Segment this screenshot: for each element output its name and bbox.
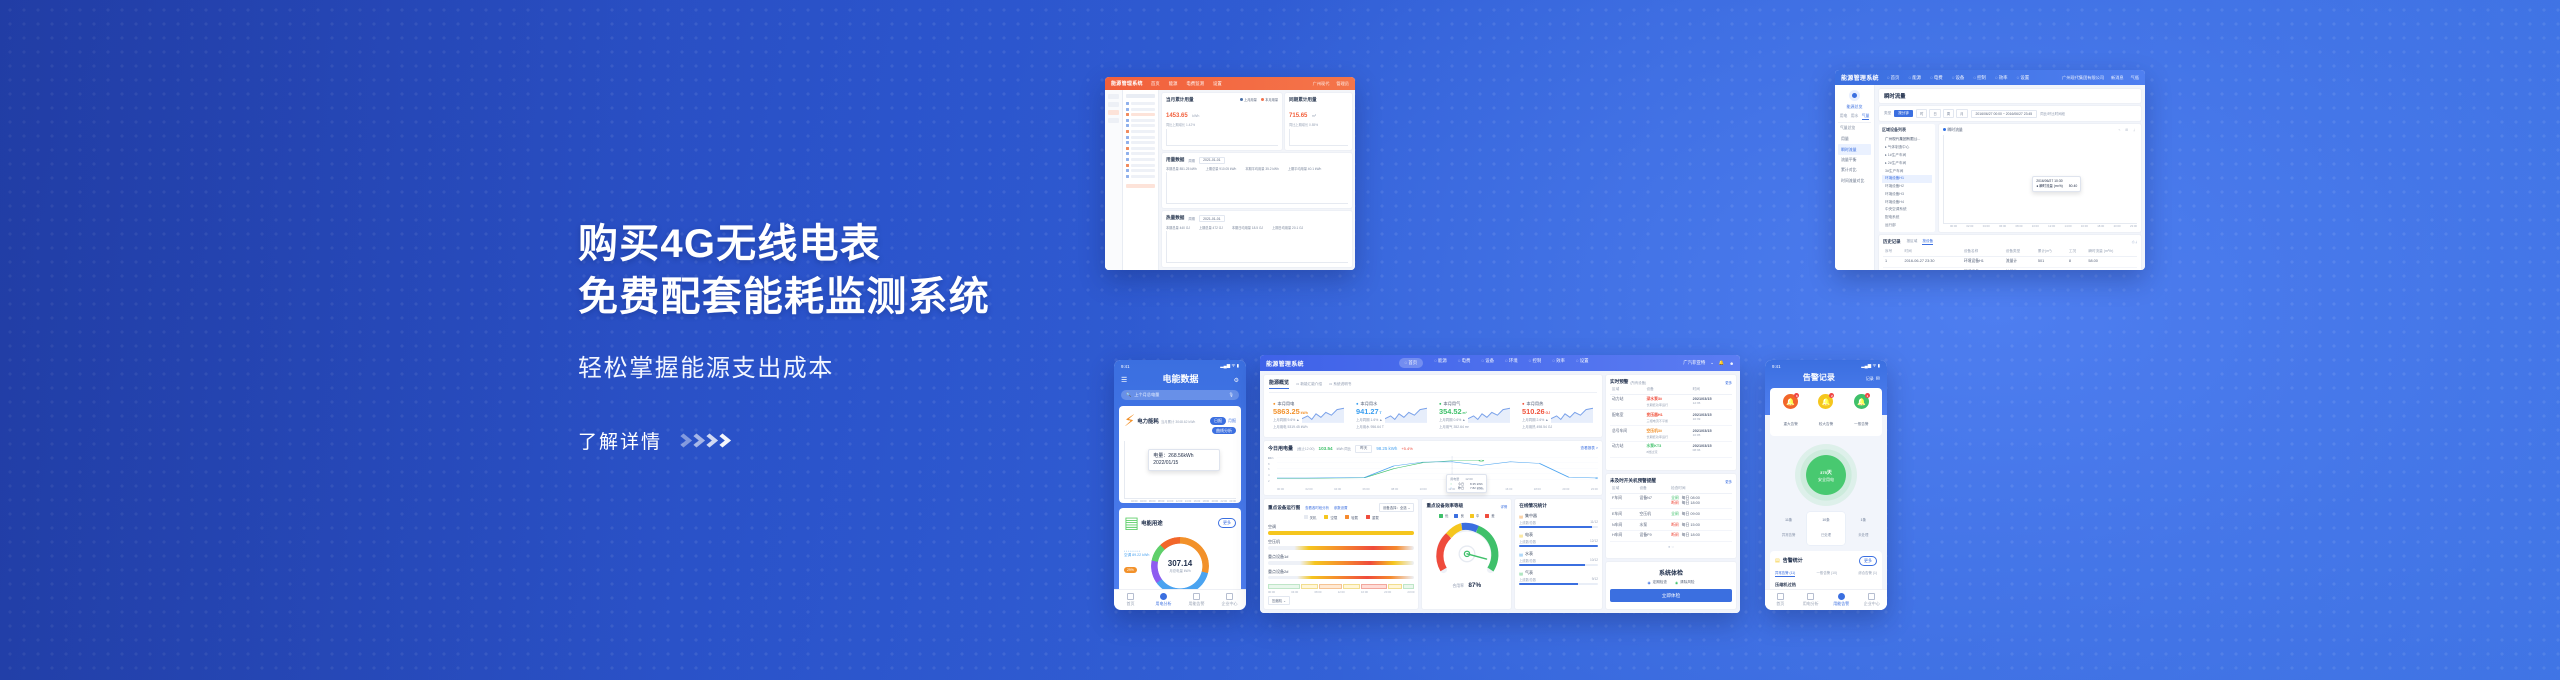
win4-run-row-bar [1268,531,1414,534]
win1-card-period-usage: 同期累计用量 715.65 m³ 同比上期增长 0.85% [1285,93,1352,150]
axis-tick: 4 [1268,473,1276,477]
win5-nav-item[interactable]: 用能告警 [1826,593,1857,608]
win4-nav-item[interactable]: ◌ 能源 [1434,358,1447,367]
win4-remind-card: 未及时开关机预警提醒 更多 区域设备检查时间 F车间设备N7全闸每日 08:00… [1606,474,1736,558]
win1-tree-item[interactable] [1126,141,1155,144]
tree-dot-icon [1126,136,1129,139]
win5-status-icons: ▂▄▆ ᯤ ▮ [1861,363,1880,369]
table-cell: 2016-06-27 23:30 [1903,256,1962,267]
axis-tick: 20:00 [2114,224,2121,228]
win5-stats-tab[interactable]: 综合告警 (1) [1858,570,1877,577]
win5-count-item[interactable]: 11条异常告警 [1770,512,1807,545]
axis-tick: 08:00 [1391,487,1398,491]
nav-icon [1160,593,1167,600]
tree-item-label [1131,102,1155,105]
win1-brand: 能源管理系统 [1111,80,1143,87]
table-cell: 2016-06-27 23:15 [1903,267,1962,270]
table-header-cell: 瞬时流量 (m³/h) [2086,247,2137,256]
win4-kpi-card: ●本月用水941.27 T上月同期 1.6% ▲上月用水 956.64 T [1352,397,1431,433]
mail-icon[interactable]: ✉ [1876,376,1880,382]
win4-remind-more[interactable]: 更多 [1725,479,1732,484]
table-cell: 54.85 [2086,267,2137,270]
win3-donut-chart: 307.14 月总电量 kWh [1151,537,1209,595]
online-progress-fill [1519,545,1598,547]
count-label: 异常告警 [1782,533,1796,537]
win2-side-item[interactable]: 用量 [1838,134,1871,144]
win5-alert-types[interactable]: 🔔3重大告警🔔2较大告警🔔1一般告警 [1770,388,1882,436]
win2-nav-item[interactable]: ◌ 首页 [1887,75,1900,81]
win2-tree-item[interactable]: 环境设备H1 [1882,175,1932,183]
legend-swatch-icon [1439,514,1443,518]
win1-tree-item[interactable] [1126,108,1155,111]
remind-time: 每日 15:00 [1682,523,1700,528]
win4-alert-row[interactable]: 动力站水泵KT38档过流2021/03/1508:36 [1610,441,1732,457]
axis-tick: 06:00 [1363,487,1370,491]
table-header-cell: 设备 [1638,484,1670,493]
win4-alert-row[interactable]: 配电室变压器H1三相电流不平衡2021/03/1510:39 [1610,410,1732,426]
table-header-cell: 累计(m³) [2036,247,2067,256]
win1-card2-unit: m³ [1312,114,1316,118]
axis-tick: 10 [1268,456,1276,460]
win1-card-usage-data: 用量数据 周期 2021-01-01 本期总量 851.25 kWh上期总量 9… [1162,153,1352,209]
win4-line-y-axis: 108642 [1268,456,1276,484]
win2-side-item[interactable]: 瞬时流量 [1838,144,1871,154]
win4-remind-row[interactable]: N车间水泵断闸每日 15:00 [1610,520,1732,531]
win4-run-link[interactable]: 查看各时段分析 [1305,505,1329,510]
win4-alert-card: 实时预警 (所有设备) 更多 区域设备时间 动力站深水泵3#长期低功率运行202… [1606,375,1736,470]
win2-table-tabs[interactable]: 按区域按设备 [1907,239,1934,245]
win2-nav-item[interactable]: ◌ 电费 [1930,75,1943,81]
win1-tree-item[interactable] [1126,152,1155,155]
win2-nav-item[interactable]: ◌ 效率 [1995,75,2008,81]
alert-device-name: 变压器H1 [1646,413,1688,418]
win2-filter-step[interactable]: 日 [1929,109,1940,118]
win5-nav-item[interactable]: 首页 [1765,593,1796,608]
win2-side-item[interactable]: 累计对比 [1838,165,1871,175]
alert-desc: 三相电流不平衡 [1646,419,1668,423]
table-header-cell: 区域 [1610,484,1638,493]
axis-tick: 23:00 [1407,590,1414,594]
win2-nav-item[interactable]: ◌ 能源 [1908,75,1921,81]
win2-tree-item[interactable]: 环境设备H2 [1882,183,1932,191]
win2-side-tab[interactable]: 用水 [1851,114,1859,120]
win5-title: 告警记录 [1772,370,1866,388]
win4-run-card: 重点设备运行图 查看各时段分析参数设置 设备选择：全选 ⌄ 关机空载轻载重载 空… [1264,499,1418,609]
win2-chart-tooltip: 2016/06/27 10:30● 瞬时流量 (m³/h)50.40 [2032,176,2081,192]
win4-run-title: 重点设备运行图 [1268,505,1300,511]
alert-time: 10:05 [1693,433,1701,437]
screenshot-mobile-alarm-records[interactable]: 9:41 ▂▄▆ ᯤ ▮ 告警记录 记录 ✉ 🔔3重大告警🔔2较大告警🔔1一般告… [1765,360,1887,610]
win4-eff-link[interactable]: 详情 [1500,504,1507,509]
win4-run-row: 重点设备1# [1268,554,1414,565]
nav-label: 企业中心 [1222,601,1238,606]
win2-filter-step[interactable]: 周 [1943,109,1954,118]
tree-dot-icon [1126,141,1129,144]
win1-topbar-action[interactable]: 广州现代 [1313,81,1330,87]
alert-time: 08:36 [1693,448,1701,452]
win2-tree-item[interactable]: ▸ 气体制造中心 [1882,144,1932,152]
win1-topbar-action[interactable]: 管理员 [1336,81,1349,87]
win5-ring-value: 375 [1820,470,1827,475]
win4-remind-row[interactable]: H车间设备F9断闸每日 18:00 [1610,530,1732,541]
table-cell: 8 [2067,267,2087,270]
remind-tag: 全闸 [1671,512,1679,517]
axis-tick: 10:00 [1420,487,1427,491]
win4-nav-item[interactable]: ◌ 电费 [1458,358,1471,367]
win5-count-item[interactable]: 10条已处理 [1807,512,1844,545]
axis-tick: 12:00 [1176,500,1183,503]
win4-today-line-chart [1277,456,1598,484]
win1-nav-item[interactable]: 首页 [1151,81,1160,87]
win4-nav-item[interactable]: ◌ 环境 [1505,358,1518,367]
win4-nav-item[interactable]: ◌ 首页 [1399,358,1424,367]
win4-remind-row[interactable]: E车间空压机全闸每日 09:00 [1610,509,1732,520]
user-icon[interactable]: ☻ [1729,361,1734,366]
win1-tree-item[interactable] [1126,130,1155,133]
remind-tag: 断闸 [1671,533,1679,538]
win2-table-export-icon[interactable]: ⎙ ⤓ [2132,240,2137,244]
win3-chart-x-axis: 02:0004:0006:0008:0010:0012:0014:0016:00… [1124,500,1236,503]
win4-run-link[interactable]: 参数设置 [1334,505,1348,510]
table-cell: 501 [2036,256,2067,267]
alert-device-name: 水泵KT3 [1646,444,1688,449]
win4-today-pct: +5.4% [1401,446,1412,451]
win5-alert-type[interactable]: 🔔1一般告警 [1844,394,1879,430]
win4-eff-legend-item: 良 [1454,513,1463,518]
alert-type-icon: 🔔1 [1854,394,1869,409]
alarm-name: 压缩机过热 [1775,582,1824,588]
win2-tree-root[interactable]: 广州现代集团有限公... [1882,136,1932,144]
table-cell: 2 [1883,267,1903,270]
screenshot-ems-flow[interactable]: 能源管理系统 ◌ 首页◌ 能源◌ 电费◌ 设备◌ 控制◌ 效率◌ 设置 广州现代… [1835,70,2145,270]
win4-remind-row[interactable]: F车间设备N7全闸每日 08:00断闸每日 18:00 [1610,493,1732,509]
win4-today-select[interactable]: 昨天 [1355,445,1372,453]
alert-time: 10:39 [1693,417,1701,421]
online-value: 10/12 [1590,558,1598,563]
win4-nav-item[interactable]: ◌ 设备 [1481,358,1494,367]
alert-time-cell: 2021/03/1510:39 [1691,410,1732,426]
win1-side-item[interactable] [1108,110,1119,115]
win1-tree-item[interactable] [1126,175,1155,178]
online-progress-fill [1519,583,1578,585]
alert-area: 总号车间 [1610,426,1644,442]
headline-line-2: 免费配套能耗监测系统 [578,271,1198,324]
online-progress [1519,545,1598,547]
count-unit: 条 [1789,518,1792,522]
win1-nav-item[interactable]: 设置 [1213,81,1222,87]
win4-check-title: 系统体检 [1610,568,1732,577]
win4-nav-item[interactable]: ◌ 设置 [1576,358,1589,367]
axis-tick: 14:00 [1477,487,1484,491]
win4-run-legend-item: 重载 [1366,515,1379,520]
remind-area: F车间 [1610,493,1638,509]
gear-icon[interactable]: ⚙ [1234,377,1239,384]
win2-nav-item[interactable]: ◌ 控制 [1973,75,1986,81]
legend-swatch-icon [1304,515,1308,519]
learn-more-label: 了解详情 [578,427,662,454]
win2-tree-item[interactable]: ▸ 1#生产车间 [1882,152,1932,160]
online-row-sub: 上线数/总数12/12 [1519,539,1598,544]
axis-tick: 02:00 [1306,487,1313,491]
online-progress-fill [1519,526,1591,528]
win5-safety-ring: 375天 安全用电 [1795,444,1857,506]
device-icon: ▤ [1519,514,1523,519]
win2-side-item[interactable]: 时间流量对比 [1838,176,1871,186]
win3-bottom-nav[interactable]: 首页用电分析用能告警企业中心 [1114,589,1246,610]
online-value: 12/12 [1590,539,1598,544]
bell-icon: 🔔 [1786,398,1795,406]
axis-tick: 10:00 [2032,224,2039,228]
win2-tree-title: 区域设备列表 [1882,127,1932,133]
win1-tree-item[interactable] [1126,124,1155,127]
win1-tree-item[interactable] [1126,113,1155,116]
win5-stats-tab[interactable]: 异常告警 (11) [1775,570,1795,577]
win5-stats-more-button[interactable]: 更多 [1859,556,1877,566]
win4-company-selector[interactable]: 广汽菲亚特 [1683,360,1705,366]
win4-run-row-bar [1268,576,1414,579]
win2-filter-hint: 同比/环比时间段 [2040,111,2065,116]
kpi-icon: ● [1522,401,1525,406]
win4-today-report-link[interactable]: 查看报表 > [1581,446,1598,451]
win5-nav-item[interactable]: 企业中心 [1857,593,1888,608]
win2-filter-step[interactable]: 月 [1956,109,1967,118]
alert-device-cell: 空压机3#长期低功率运行 [1644,426,1690,442]
win1-stat: 上期总量 910.05 kWh [1206,166,1237,171]
win5-count-item[interactable]: 1条未处理 [1845,512,1882,545]
win2-page-title: 瞬时流量 [1884,92,2136,100]
win1-tree-item[interactable] [1126,119,1155,122]
win2-topbar-action[interactable]: 气瓶 [2131,75,2139,81]
win4-section-links[interactable]: ▭ 新能汇能介绍▭ 系统说明书 [1296,382,1351,387]
axis-tick: 16:00 [1194,500,1201,503]
win4-section-link[interactable]: ▭ 系统说明书 [1329,382,1351,387]
tree-dot-icon [1126,152,1129,155]
win2-chart-toolbar[interactable]: ⌁ ⊞ ⤓ [2118,128,2137,133]
win1-tree-item[interactable] [1126,102,1155,105]
win5-alert-type[interactable]: 🔔2较大告警 [1808,394,1843,430]
table-header-cell: 序号 [1883,247,1903,256]
win2-filter-steps[interactable]: 时日周月 [1916,109,1968,118]
win2-topbar-action[interactable]: 广州现代集团有限公司 [2062,75,2104,81]
win5-stats-tabs[interactable]: 异常告警 (11)一般告警 (10)综合告警 (1) [1775,570,1877,577]
win1-card3-date-picker[interactable]: 2021-01-01 [1199,157,1224,164]
nav-label: 用电分析 [1156,601,1172,606]
win2-tree-item[interactable]: 运行部 [1882,222,1932,230]
win2-topbar-action[interactable]: 新消息 [2111,75,2124,81]
win4-today-title: 今日用电量 [1268,445,1293,452]
win1-tree-item[interactable] [1126,164,1155,167]
tree-dot-icon [1126,102,1129,105]
tree-item-label [1131,136,1155,139]
win1-card3-filter-label: 周期 [1188,158,1195,163]
alert-time: 12:35 [1693,401,1701,405]
win2-date-range[interactable]: 2016/06/27 00:00 ~ 2016/06/27 23:45 [1971,110,2038,118]
win2-filter-active[interactable]: 按分钟 [1894,110,1913,117]
tree-dot-icon [1126,158,1129,161]
win2-filter-type-label: 类型 [1884,111,1891,116]
win1-tree-item[interactable] [1126,158,1155,161]
win4-run-legend-item: 关机 [1304,515,1317,520]
win1-nav-item[interactable]: 电费监测 [1186,81,1204,87]
win1-card4-date-picker[interactable]: 2021-01-01 [1199,215,1224,222]
win3-callout-pct: 29% [1124,567,1137,573]
count-value-row: 10条 [1807,516,1844,523]
win2-sidebar[interactable]: 能源总览 用电用水气量 气量总览 用量瞬时流量流量平衡累计对比时间流量对比 [1835,85,1875,270]
online-sub-label: 上线数/总数 [1519,558,1536,563]
win2-tooltip-label: ● 瞬时流量 (m³/h) [2036,184,2063,189]
kpi-previous: 上月用热 498.54 GJ [1522,424,1593,429]
win4-run-legend-item: 空载 [1324,515,1337,520]
win2-side-tab[interactable]: 气量 [1862,114,1870,120]
win4-nav-item[interactable]: ◌ 效率 [1552,358,1565,367]
axis-tick: 18:00 [2097,224,2104,228]
win5-title-right[interactable]: 记录 [1866,376,1874,382]
axis-tick: 23:00 [1591,487,1598,491]
mic-icon[interactable]: 🎙 [1229,392,1234,398]
table-row[interactable]: 22016-06-27 23:15环境设备H1流量计501854.85 [1883,267,2137,270]
win4-run-footer-select[interactable]: 压缩机 ⌄ [1268,596,1290,605]
axis-tick: 06:00 [1149,500,1156,503]
win3-more-button[interactable]: 更多 [1218,518,1236,528]
win3-nav-item[interactable]: 企业中心 [1213,593,1246,608]
online-device-name: 集中器 [1525,513,1537,519]
bell-icon[interactable]: 🔔 [1719,360,1724,366]
alert-desc: 长期低功率运行 [1646,403,1668,407]
win1-legend-cur: 本月用量 [1265,98,1278,102]
win4-run-device-select[interactable]: 设备选择：全选 ⌄ [1379,503,1415,512]
axis-tick: 23:00 [2130,224,2137,228]
win4-today-cmp: 98.25 kWh [1376,446,1397,451]
win4-alert-row[interactable]: 动力站深水泵3#长期低功率运行2021/03/1512:35 [1610,394,1732,410]
win1-tree-item[interactable] [1126,169,1155,172]
count-unit: 条 [1826,518,1829,522]
table-cell: 8 [2067,256,2087,267]
online-row-sub: 上线数/总数10/12 [1519,558,1598,563]
device-icon: ▤ [1519,571,1523,576]
table-row[interactable]: 12016-06-27 23:30环境设备H1流量计501858.00 [1883,256,2137,267]
win3-card2-title: 电能用途 [1141,519,1163,527]
win4-run-links[interactable]: 查看各时段分析参数设置 [1305,505,1347,510]
win2-filter-step[interactable]: 时 [1916,109,1927,118]
win2-topbar-right[interactable]: 广州现代集团有限公司新消息气瓶 [2062,75,2139,81]
win4-nav[interactable]: ◌ 首页◌ 能源◌ 电费◌ 设备◌ 环境◌ 控制◌ 效率◌ 设置 [1312,358,1675,367]
win2-filter-bar[interactable]: 类型 按分钟 时日周月 2016/06/27 00:00 ~ 2016/06/2… [1879,106,2141,121]
win1-tree-item[interactable] [1126,136,1155,139]
win4-today-unit: kWh 同比 [1337,446,1352,451]
win2-tree-item[interactable]: 中央空调系统 [1882,206,1932,214]
win2-area-tree[interactable]: 区域设备列表 广州现代集团有限公... ▸ 气体制造中心▸ 1#生产车间▸ 2#… [1879,124,1935,232]
win2-nav-item[interactable]: ◌ 设备 [1952,75,1965,81]
win4-today-note: (截止12:00) [1297,446,1315,451]
axis-tick: 18:00 [1203,500,1210,503]
online-device-name: 电表 [1525,532,1533,538]
win2-tree-item[interactable]: 配电系统 [1882,214,1932,222]
win5-alert-type[interactable]: 🔔3重大告警 [1773,394,1808,430]
alert-type-label: 一般告警 [1854,422,1868,426]
remind-time: 每日 18:00 [1682,501,1700,506]
table-header-cell: 时间 [1691,385,1732,394]
win4-check-item: ◉定期检查 [1647,580,1667,585]
kpi-unit: m³ [1462,411,1467,415]
axis-tick: 22:00 [1221,500,1228,503]
win4-alert-more[interactable]: 更多 [1725,380,1732,385]
win5-ring-label: 安全用电 [1818,477,1834,483]
win1-alert-badge [1126,184,1155,188]
win4-nav-item[interactable]: ◌ 控制 [1529,358,1542,367]
win2-tree-item[interactable]: 环境设备H4 [1882,198,1932,206]
win1-chart-monthly [1166,129,1278,146]
bell-icon: 🔔 [1857,398,1866,406]
win4-remind-pagination[interactable]: ● ○ [1610,544,1732,549]
axis-tick: 14:00 [2065,224,2072,228]
win2-nav[interactable]: ◌ 首页◌ 能源◌ 电费◌ 设备◌ 控制◌ 效率◌ 设置 [1887,75,2054,81]
win2-side-item[interactable]: 流量平衡 [1838,155,1871,165]
win1-side-item[interactable] [1108,102,1119,107]
win3-curve-analysis-button[interactable]: 曲线分析 [1212,427,1236,434]
win1-side-item[interactable] [1108,94,1119,99]
win2-side-tabs[interactable]: 用电用水气量 [1838,114,1871,123]
win2-table-tab[interactable]: 按区域 [1907,239,1918,245]
win5-nav-item[interactable]: 用电分析 [1796,593,1827,608]
axis-tick: 12:00 [1448,487,1455,491]
win2-chart-card: 瞬时流量 ⌁ ⊞ ⤓ 2016/06/27 10:30● 瞬时流量 (m³/h)… [1939,124,2141,232]
win5-count-row[interactable]: 11条异常告警10条已处理1条未处理 [1770,512,1882,545]
remind-line: 全闸每日 09:00 [1671,512,1730,517]
learn-more-button[interactable]: 了解详情 [578,427,728,454]
win4-alert-row[interactable]: 总号车间空压机3#长期低功率运行2021/03/1510:05 [1610,426,1732,442]
win3-nav-item[interactable]: 用能告警 [1180,593,1213,608]
win3-donut-value: 307.14 [1168,559,1192,568]
win4-brand: 能源管理系统 [1266,359,1304,368]
win1-side-item[interactable] [1108,118,1119,123]
win3-nav-item[interactable]: 用电分析 [1147,593,1180,608]
win1-nav-item[interactable]: 能源 [1169,81,1178,87]
win1-tree-item[interactable] [1126,147,1155,150]
win2-body: 能源总览 用电用水气量 气量总览 用量瞬时流量流量平衡累计对比时间流量对比 瞬时… [1835,85,2145,270]
win2-tree-item[interactable]: 环境设备H3 [1882,190,1932,198]
win5-stats-tab[interactable]: 一般告警 (10) [1817,570,1838,577]
check-label: 定期检查 [1653,580,1667,585]
tree-item-label [1131,147,1155,150]
win1-nav[interactable]: 首页能源电费监测设置 [1151,81,1305,87]
online-row-sub: 上线数/总数9/12 [1519,577,1598,582]
win2-tree-item[interactable]: 3#生产车间 [1882,167,1932,175]
axis-tick: 20:00 [1384,590,1391,594]
legend-swatch-icon [1470,514,1474,518]
remind-device: 设备N7 [1638,493,1670,509]
chevron-down-icon[interactable]: ⌄ [1710,360,1714,366]
alert-time-cell: 2021/03/1512:35 [1691,394,1732,410]
kpi-icon: ● [1356,401,1359,406]
win3-nav-item[interactable]: 首页 [1114,593,1147,608]
win2-tree-item[interactable]: ▸ 2#生产车间 [1882,159,1932,167]
win2-table-tab[interactable]: 按设备 [1922,239,1933,245]
win5-bottom-nav[interactable]: 首页用电分析用能告警企业中心 [1765,589,1887,610]
win4-check-button[interactable]: 立即体检 [1610,589,1732,602]
tree-item-label [1131,108,1155,111]
screenshot-ems-overview[interactable]: 能源管理系统 ◌ 首页◌ 能源◌ 电费◌ 设备◌ 环境◌ 控制◌ 效率◌ 设置 … [1260,355,1740,613]
win2-brand: 能源管理系统 [1841,73,1879,82]
axis-tick: 04:00 [1291,590,1298,594]
win1-topbar-right[interactable]: 广州现代管理员 [1313,81,1349,87]
win2-side-tab[interactable]: 用电 [1840,114,1848,120]
nav-icon [1868,593,1875,600]
online-sub-label: 上线数/总数 [1519,520,1536,525]
win2-nav-item[interactable]: ◌ 设置 [2017,75,2030,81]
win4-section-link[interactable]: ▭ 新能汇能介绍 [1296,382,1322,387]
axis-tick: 12:00 [2048,224,2055,228]
win4-alert-scope: (所有设备) [1630,380,1646,385]
